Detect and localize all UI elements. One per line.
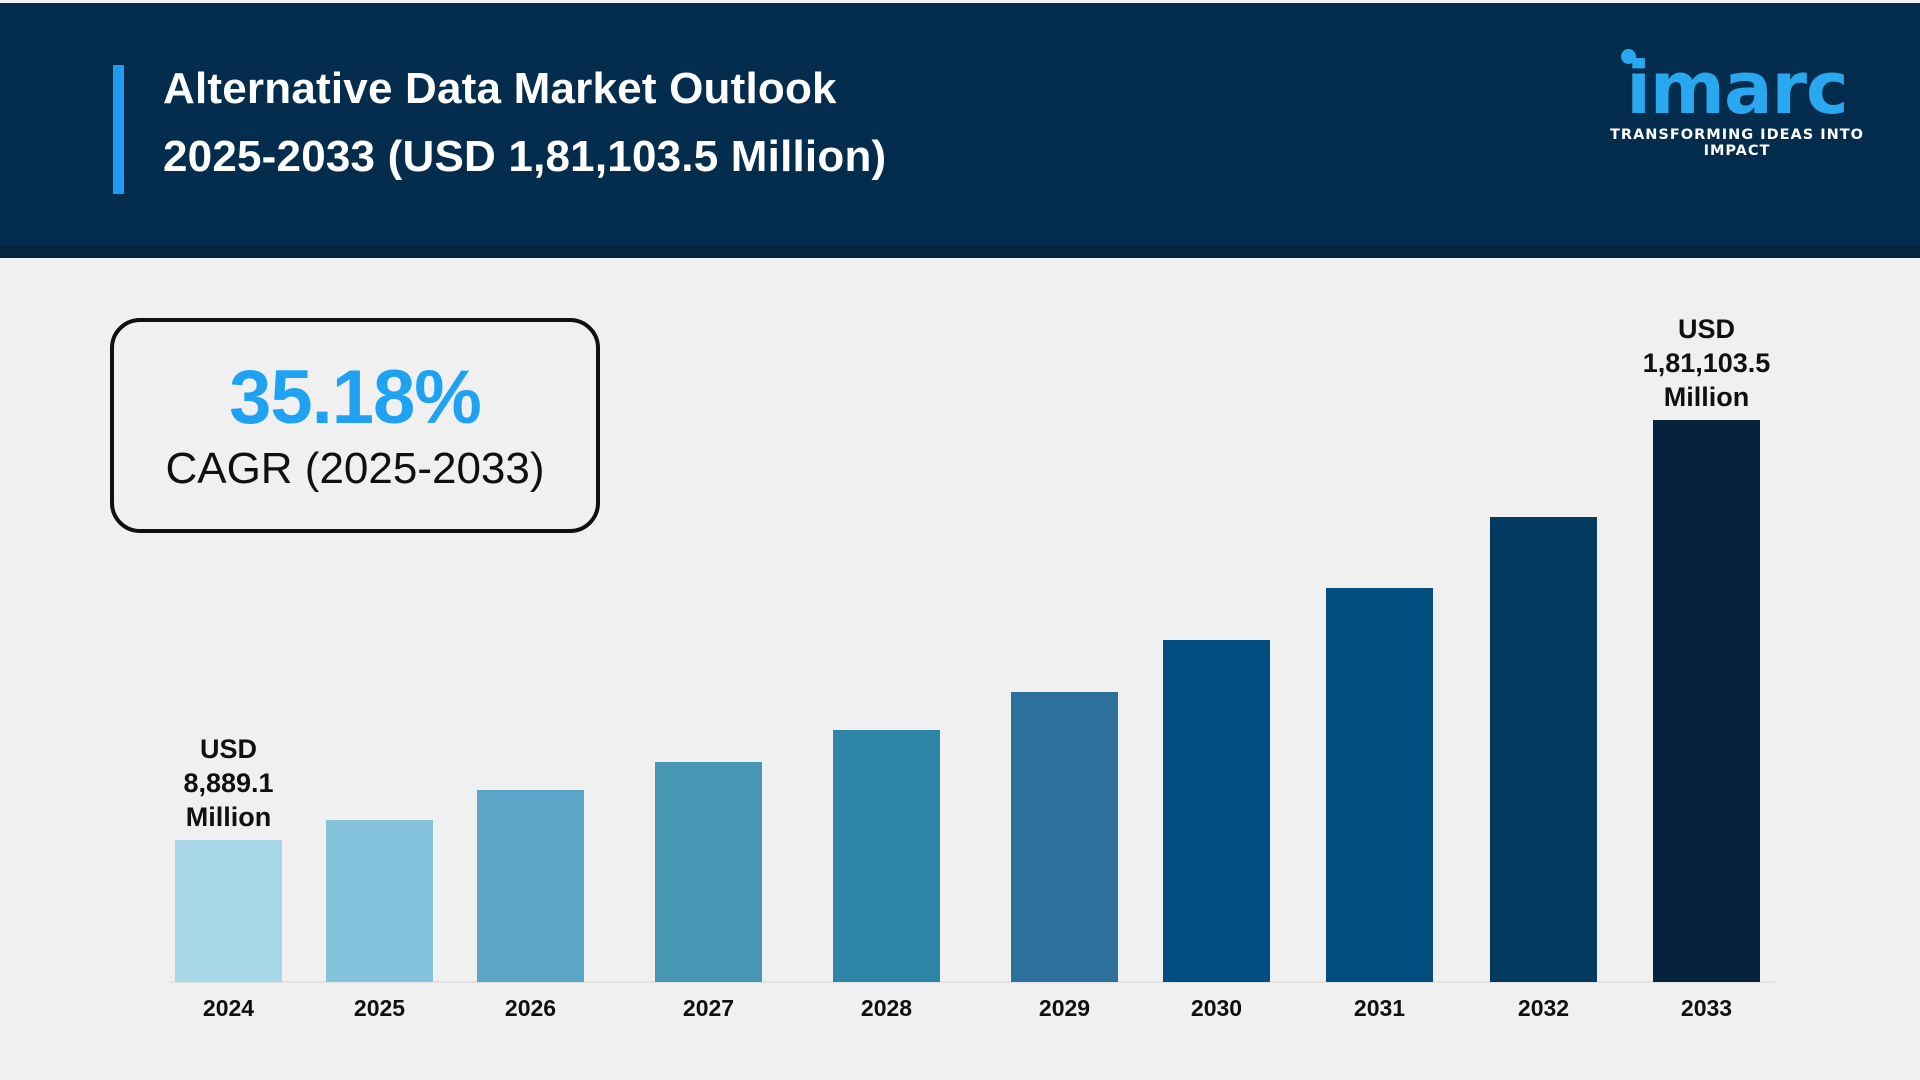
bar-rect-2030 [1163, 640, 1270, 982]
x-tick-2030: 2030 [1163, 994, 1270, 1022]
bar-rect-2031 [1326, 588, 1433, 982]
x-tick-2024: 2024 [175, 994, 282, 1022]
bar-rect-2024 [175, 840, 282, 982]
bar-value-label-line-3: Million [183, 800, 273, 834]
bar-2030 [1163, 640, 1270, 982]
bar-value-label-2024: USD8,889.1Million [183, 732, 273, 834]
x-tick-2026: 2026 [477, 994, 584, 1022]
x-tick-2029: 2029 [1011, 994, 1118, 1022]
x-tick-2027: 2027 [655, 994, 762, 1022]
bar-2031 [1326, 588, 1433, 982]
bar-value-label-line-1: USD [183, 732, 273, 766]
x-tick-2028: 2028 [833, 994, 940, 1022]
bar-rect-2028 [833, 730, 940, 982]
x-tick-2031: 2031 [1326, 994, 1433, 1022]
bar-2026 [477, 790, 584, 982]
bar-2024: USD8,889.1Million [175, 840, 282, 982]
bar-rect-2027 [655, 762, 762, 982]
bar-rect-2029 [1011, 692, 1118, 982]
bar-rect-2033 [1653, 420, 1760, 982]
bar-value-label-2033: USD1,81,103.5Million [1643, 312, 1771, 414]
bar-2027 [655, 762, 762, 982]
bar-rect-2026 [477, 790, 584, 982]
bar-2033: USD1,81,103.5Million [1653, 420, 1760, 982]
x-tick-2032: 2032 [1490, 994, 1597, 1022]
bar-2025 [326, 820, 433, 982]
x-tick-2025: 2025 [326, 994, 433, 1022]
bar-rect-2025 [326, 820, 433, 982]
bar-2028 [833, 730, 940, 982]
bar-value-label-line-1: USD [1643, 312, 1771, 346]
bar-value-label-line-3: Million [1643, 380, 1771, 414]
bar-rect-2032 [1490, 517, 1597, 982]
bar-value-label-line-2: 8,889.1 [183, 766, 273, 800]
bar-value-label-line-2: 1,81,103.5 [1643, 346, 1771, 380]
x-tick-2033: 2033 [1653, 994, 1760, 1022]
bar-2032 [1490, 517, 1597, 982]
bar-chart: USD8,889.1MillionUSD1,81,103.5Million 20… [0, 0, 1920, 1080]
bar-2029 [1011, 692, 1118, 982]
